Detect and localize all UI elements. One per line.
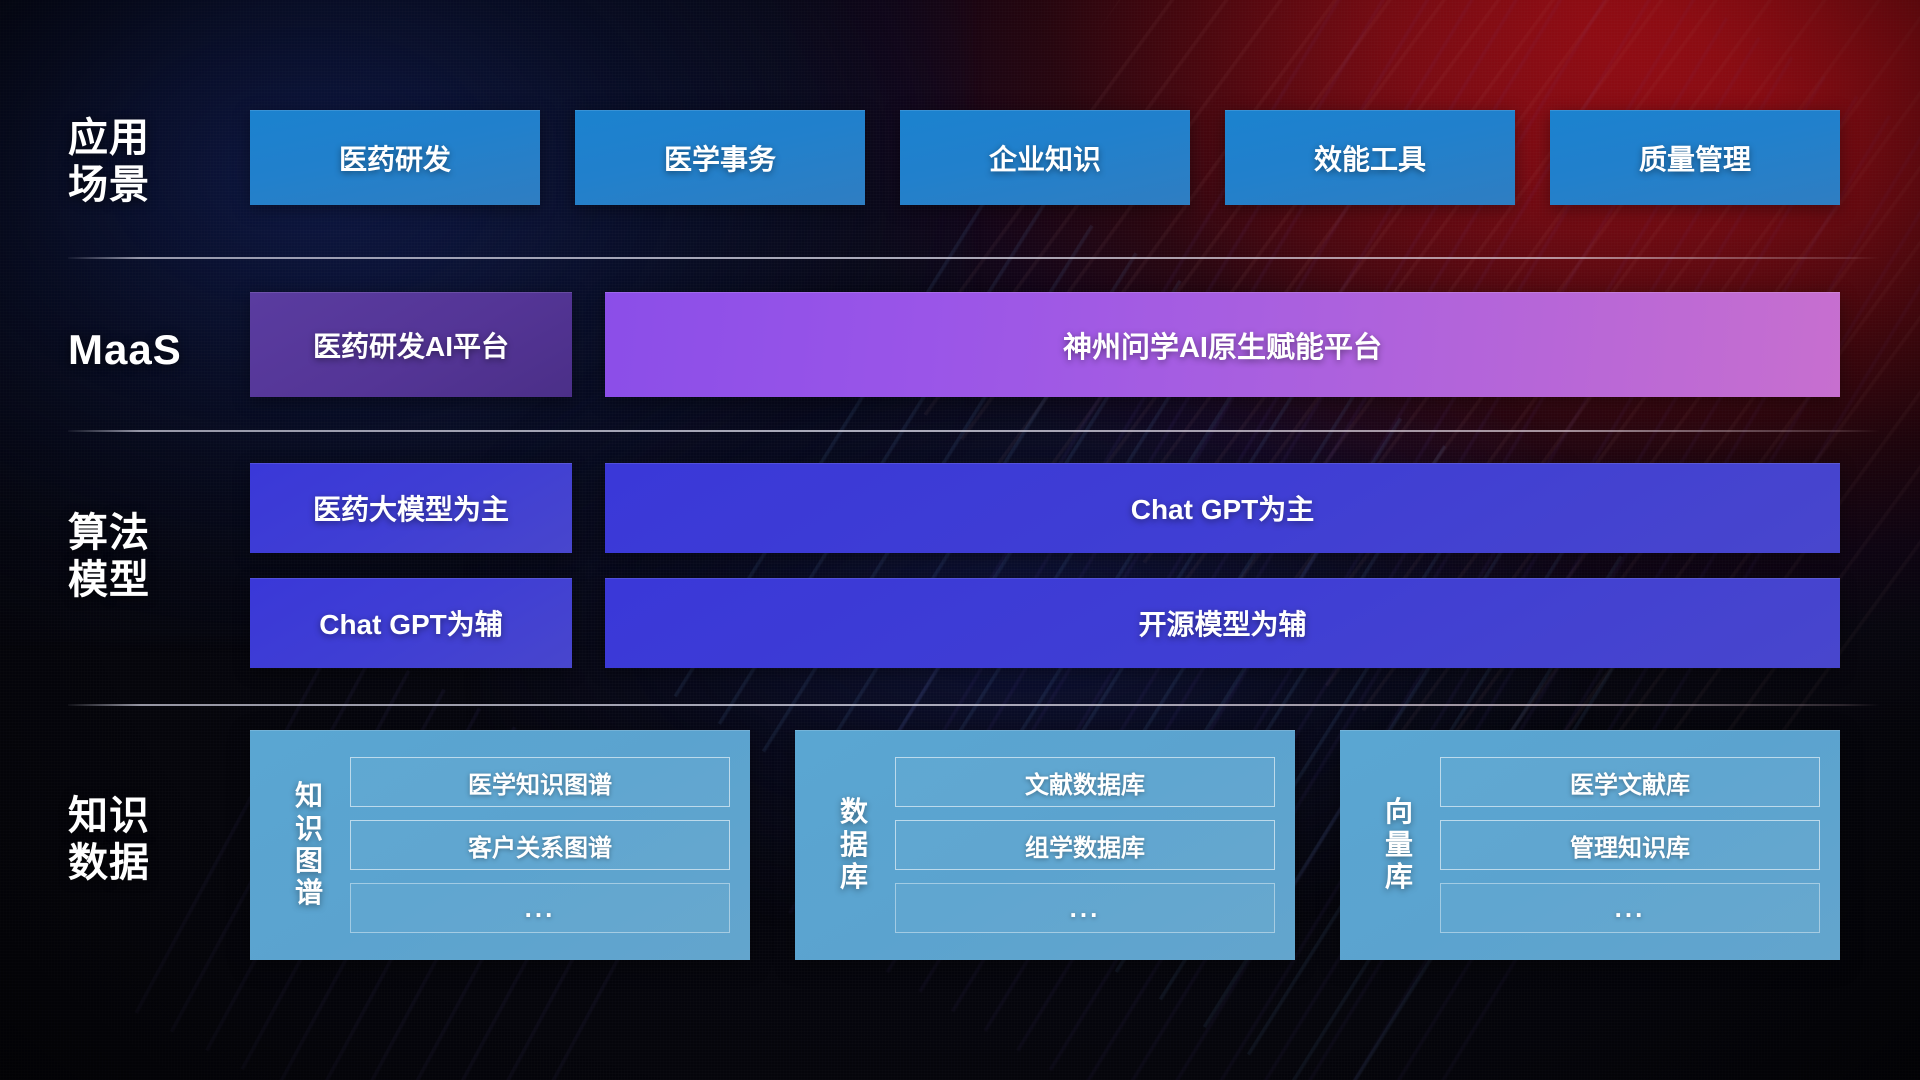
row-label-algorithm-model: 算法模型 xyxy=(68,510,228,604)
knowledge-group-2-item-3-label: ... xyxy=(1070,893,1101,924)
maas-enablement-platform-box[interactable]: 神州问学AI原生赋能平台 xyxy=(605,292,1840,397)
algo-model-secondary-right-label: 开源模型为辅 xyxy=(1138,603,1306,643)
app-scenario-box-3[interactable]: 企业知识 xyxy=(900,110,1190,205)
row-label-maas: MaaS xyxy=(68,325,228,375)
maas-enablement-platform-box-label: 神州问学AI原生赋能平台 xyxy=(1063,324,1382,366)
algo-model-primary-left-label: 医药大模型为主 xyxy=(313,488,509,528)
knowledge-group-2-item-2[interactable]: 组学数据库 xyxy=(895,820,1275,870)
algo-model-secondary-left-label: Chat GPT为辅 xyxy=(319,603,503,643)
divider-3 xyxy=(68,704,1880,706)
algo-model-primary-right-label: Chat GPT为主 xyxy=(1131,488,1315,528)
knowledge-group-1-item-3[interactable]: ... xyxy=(350,883,730,933)
knowledge-group-1-label: 知识图谱 xyxy=(278,780,340,910)
maas-platform-box[interactable]: 医药研发AI平台 xyxy=(250,292,572,397)
app-scenario-box-4-label: 效能工具 xyxy=(1314,138,1426,178)
knowledge-group-2-item-1[interactable]: 文献数据库 xyxy=(895,757,1275,807)
knowledge-group-1-item-1[interactable]: 医学知识图谱 xyxy=(350,757,730,807)
architecture-diagram: 应用场景 医药研发 医学事务 企业知识 效能工具 质量管理 MaaS 医药研发A… xyxy=(0,0,1920,1080)
algo-model-secondary-right-box[interactable]: 开源模型为辅 xyxy=(605,578,1840,668)
knowledge-group-2-item-1-label: 文献数据库 xyxy=(1025,765,1145,800)
row-label-application-scenario: 应用场景 xyxy=(68,115,228,209)
knowledge-group-3-item-3-label: ... xyxy=(1615,893,1646,924)
app-scenario-box-1[interactable]: 医药研发 xyxy=(250,110,540,205)
knowledge-group-3-item-1-label: 医学文献库 xyxy=(1570,765,1690,800)
algo-model-primary-left-box[interactable]: 医药大模型为主 xyxy=(250,463,572,553)
knowledge-group-vector-store[interactable]: 向量库 医学文献库 管理知识库 ... xyxy=(1340,730,1840,960)
knowledge-group-3-items: 医学文献库 管理知识库 ... xyxy=(1440,757,1826,933)
knowledge-group-2-items: 文献数据库 组学数据库 ... xyxy=(895,757,1281,933)
knowledge-group-2-item-2-label: 组学数据库 xyxy=(1025,828,1145,863)
knowledge-group-knowledge-graph[interactable]: 知识图谱 医学知识图谱 客户关系图谱 ... xyxy=(250,730,750,960)
knowledge-group-3-item-3[interactable]: ... xyxy=(1440,883,1820,933)
knowledge-group-2-item-3[interactable]: ... xyxy=(895,883,1275,933)
knowledge-group-1-items: 医学知识图谱 客户关系图谱 ... xyxy=(350,757,736,933)
maas-platform-box-label: 医药研发AI平台 xyxy=(313,325,509,365)
knowledge-group-database[interactable]: 数据库 文献数据库 组学数据库 ... xyxy=(795,730,1295,960)
knowledge-group-3-item-2-label: 管理知识库 xyxy=(1570,828,1690,863)
app-scenario-box-4[interactable]: 效能工具 xyxy=(1225,110,1515,205)
algo-model-primary-right-box[interactable]: Chat GPT为主 xyxy=(605,463,1840,553)
app-scenario-box-2-label: 医学事务 xyxy=(664,138,776,178)
app-scenario-box-1-label: 医药研发 xyxy=(339,138,451,178)
app-scenario-box-3-label: 企业知识 xyxy=(989,138,1101,178)
knowledge-group-1-item-3-label: ... xyxy=(525,893,556,924)
knowledge-group-1-item-2-label: 客户关系图谱 xyxy=(468,828,612,863)
app-scenario-box-5-label: 质量管理 xyxy=(1639,138,1751,178)
knowledge-group-1-item-2[interactable]: 客户关系图谱 xyxy=(350,820,730,870)
divider-2 xyxy=(68,430,1880,432)
app-scenario-box-5[interactable]: 质量管理 xyxy=(1550,110,1840,205)
app-scenario-box-2[interactable]: 医学事务 xyxy=(575,110,865,205)
knowledge-group-3-item-1[interactable]: 医学文献库 xyxy=(1440,757,1820,807)
knowledge-group-1-item-1-label: 医学知识图谱 xyxy=(468,765,612,800)
algo-model-secondary-left-box[interactable]: Chat GPT为辅 xyxy=(250,578,572,668)
row-label-knowledge-data: 知识数据 xyxy=(68,793,228,887)
slide-canvas: 应用场景 医药研发 医学事务 企业知识 效能工具 质量管理 MaaS 医药研发A… xyxy=(0,0,1920,1080)
knowledge-group-3-label: 向量库 xyxy=(1368,796,1430,893)
knowledge-group-2-label: 数据库 xyxy=(823,796,885,893)
knowledge-group-3-item-2[interactable]: 管理知识库 xyxy=(1440,820,1820,870)
divider-1 xyxy=(68,257,1880,259)
